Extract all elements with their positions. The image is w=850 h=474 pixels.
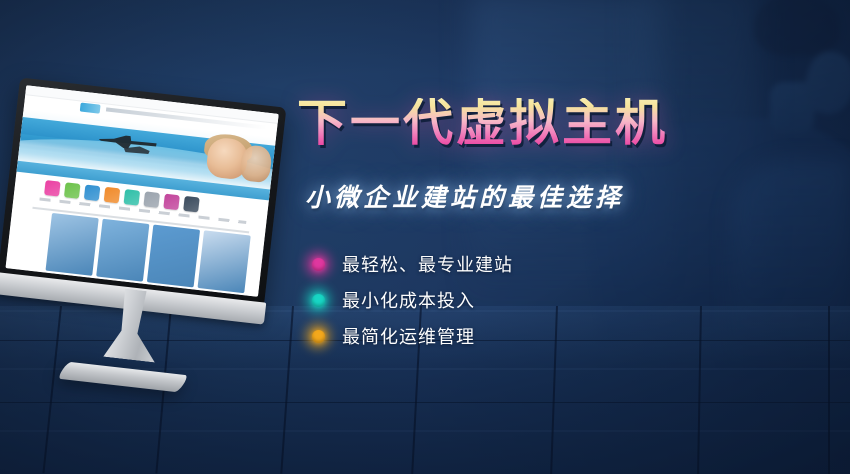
website-app-icon <box>183 196 200 213</box>
bullet-dot <box>312 258 325 271</box>
promo-banner: 下一代虚拟主机 小微企业建站的最佳选择 最轻松、最专业建站最小化成本投入最简化运… <box>0 0 850 474</box>
website-app-icon <box>143 191 160 208</box>
monitor-screen <box>6 85 279 297</box>
website-app-icon <box>64 182 81 199</box>
website-thumbnail <box>198 230 251 293</box>
feature-list: 最轻松、最专业建站最小化成本投入最简化运维管理 <box>303 246 513 354</box>
bullet-dot <box>312 294 325 307</box>
website-thumbnail <box>147 224 200 287</box>
feature-item: 最小化成本投入 <box>303 282 513 318</box>
bullet-dot-teal <box>303 285 333 315</box>
page-title: 下一代虚拟主机 <box>297 98 668 148</box>
website-app-icon <box>44 180 61 197</box>
website-app-icon <box>104 187 121 204</box>
feature-label: 最简化运维管理 <box>342 323 475 349</box>
website-logo <box>80 102 101 113</box>
feature-label: 最轻松、最专业建站 <box>342 251 513 277</box>
website-thumbnail <box>96 219 149 282</box>
feature-item: 最轻松、最专业建站 <box>303 246 513 282</box>
page-subtitle: 小微企业建站的最佳选择 <box>305 178 624 214</box>
bullet-dot-magenta <box>303 249 333 279</box>
bullet-dot <box>312 330 325 343</box>
website-thumbnail <box>45 213 98 276</box>
feature-label: 最小化成本投入 <box>342 287 475 313</box>
feature-item: 最简化运维管理 <box>303 318 513 354</box>
website-app-icon <box>163 194 180 211</box>
website-app-icon <box>124 189 141 206</box>
website-preview <box>6 85 279 297</box>
website-app-icon <box>84 185 101 202</box>
monitor-bezel <box>0 77 286 306</box>
desktop-monitor <box>0 77 286 306</box>
bullet-dot-orange <box>303 321 333 351</box>
